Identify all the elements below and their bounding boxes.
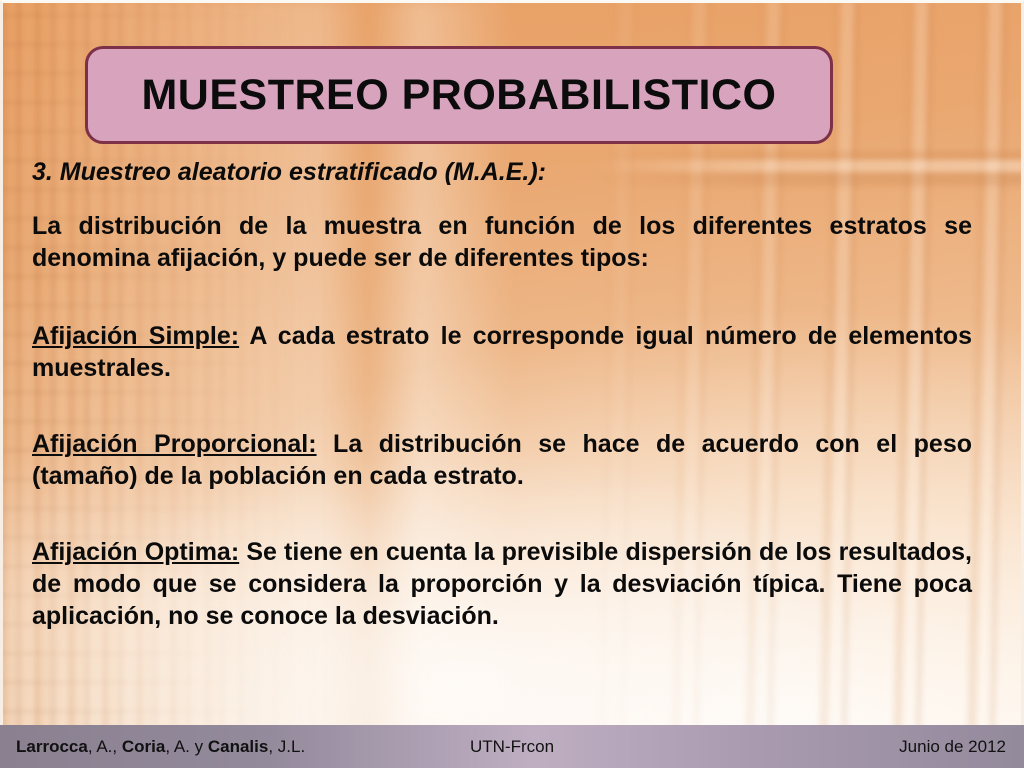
- afijacion-optima-paragraph: Afijación Optima: Se tiene en cuenta la …: [32, 536, 972, 632]
- slide-title-box: MUESTREO PROBABILISTICO: [85, 46, 833, 144]
- spacer: [32, 492, 972, 536]
- slide-footer: Larrocca, A., Coria, A. y Canalis, J.L. …: [0, 725, 1024, 768]
- intro-paragraph: La distribución de la muestra en función…: [32, 210, 972, 274]
- presentation-slide: MUESTREO PROBABILISTICO 3. Muestreo alea…: [0, 0, 1024, 768]
- spacer: [32, 384, 972, 428]
- afijacion-proporcional-paragraph: Afijación Proporcional: La distribución …: [32, 428, 972, 492]
- afijacion-simple-label: Afijación Simple:: [32, 322, 239, 350]
- afijacion-proporcional-label: Afijación Proporcional:: [32, 430, 317, 458]
- footer-institution: UTN-Frcon: [0, 737, 1024, 757]
- afijacion-simple-paragraph: Afijación Simple: A cada estrato le corr…: [32, 320, 972, 384]
- footer-date: Junio de 2012: [899, 737, 1006, 757]
- section-heading: 3. Muestreo aleatorio estratificado (M.A…: [32, 158, 972, 188]
- afijacion-optima-label: Afijación Optima:: [32, 538, 239, 566]
- slide-body: 3. Muestreo aleatorio estratificado (M.A…: [32, 158, 972, 632]
- spacer: [32, 274, 972, 320]
- slide-title: MUESTREO PROBABILISTICO: [141, 71, 776, 120]
